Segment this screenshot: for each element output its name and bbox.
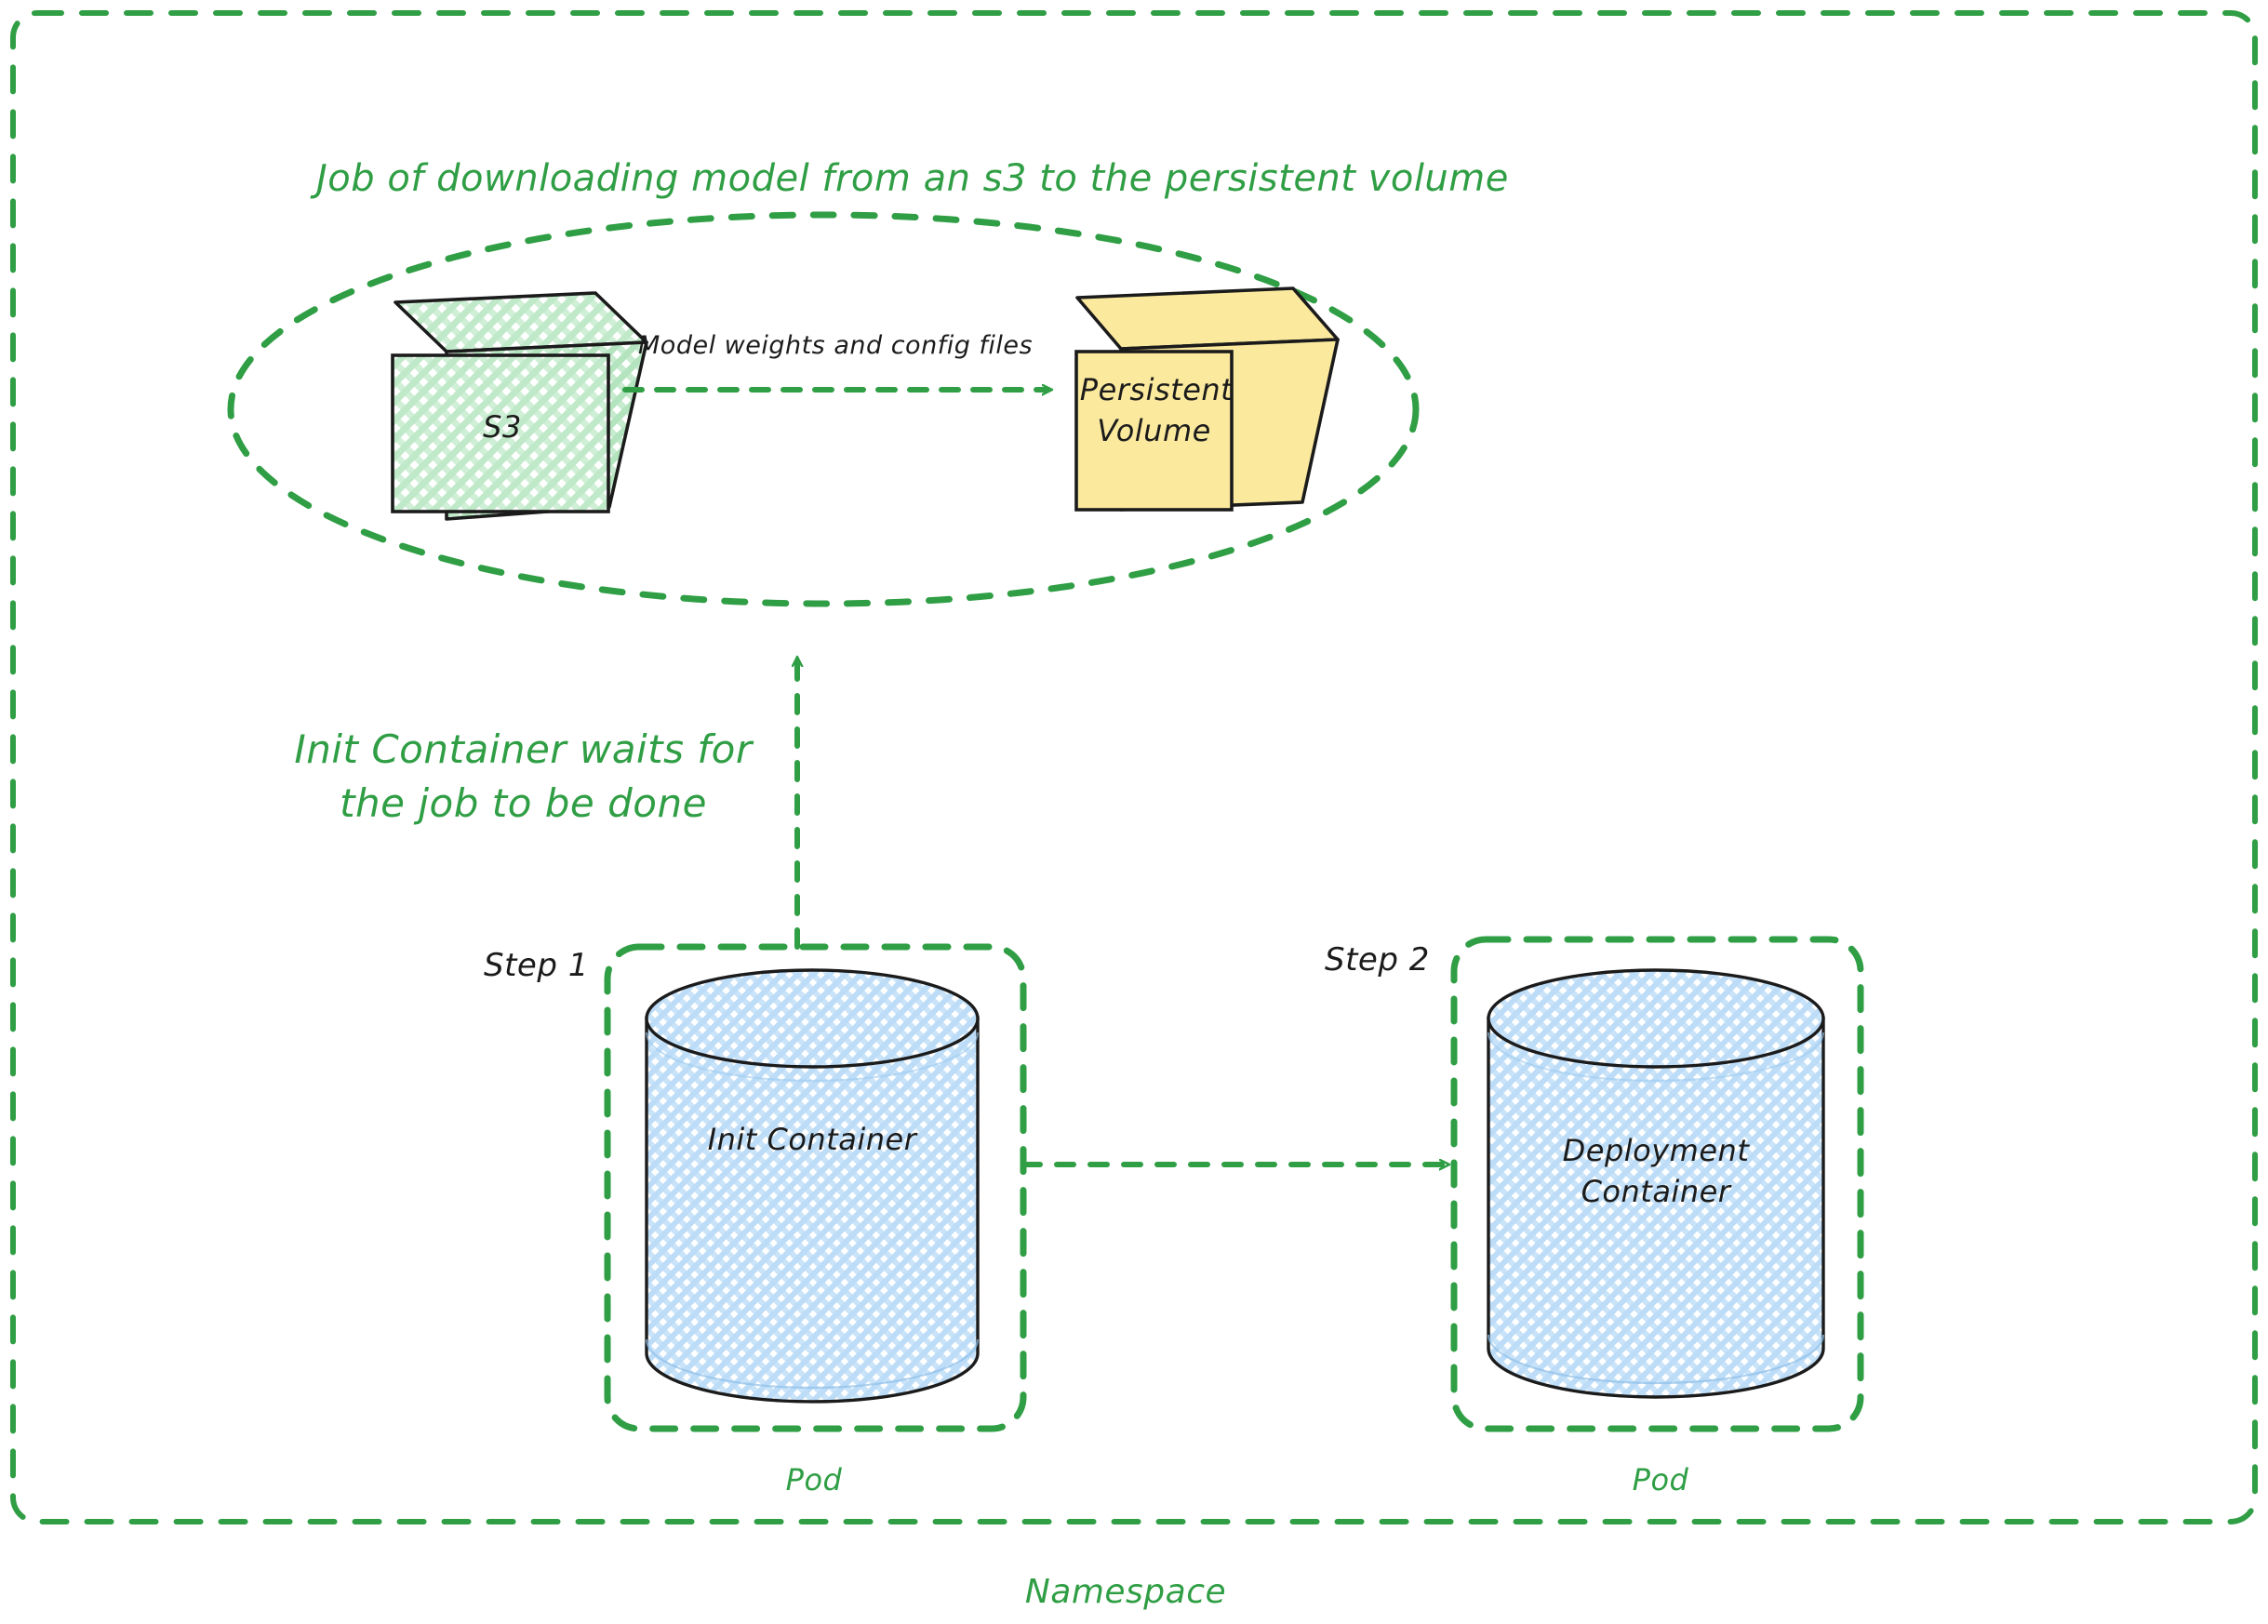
- pod-label-2: Pod: [1554, 1462, 1768, 1498]
- diagram-canvas: Job of downloading model from an s3 to t…: [0, 0, 2268, 1624]
- s3-cube: [393, 293, 647, 519]
- namespace-label: Namespace: [930, 1572, 1321, 1613]
- step-label-1: Step 1: [484, 947, 589, 985]
- wait-note-line2: the job to be done: [279, 779, 767, 827]
- wait-note-line1: Init Container waits for: [279, 725, 767, 773]
- init-container-label: Init Container: [682, 1122, 942, 1158]
- pod-label-1: Pod: [707, 1462, 921, 1498]
- step-label-2: Step 2: [1325, 941, 1430, 979]
- persistent-volume-label-line1: Persistent: [1068, 372, 1245, 408]
- job-group-title: Job of downloading model from an s3 to t…: [316, 156, 1509, 202]
- deployment-container-label-line2: Container: [1526, 1174, 1786, 1210]
- edge-label-model-weights: Model weights and config files: [638, 331, 1033, 362]
- persistent-volume-label-line2: Volume: [1068, 413, 1240, 449]
- deployment-container-label-line1: Deployment: [1526, 1133, 1786, 1169]
- init-container-cylinder: [647, 970, 978, 1402]
- s3-cube-label: S3: [428, 409, 577, 446]
